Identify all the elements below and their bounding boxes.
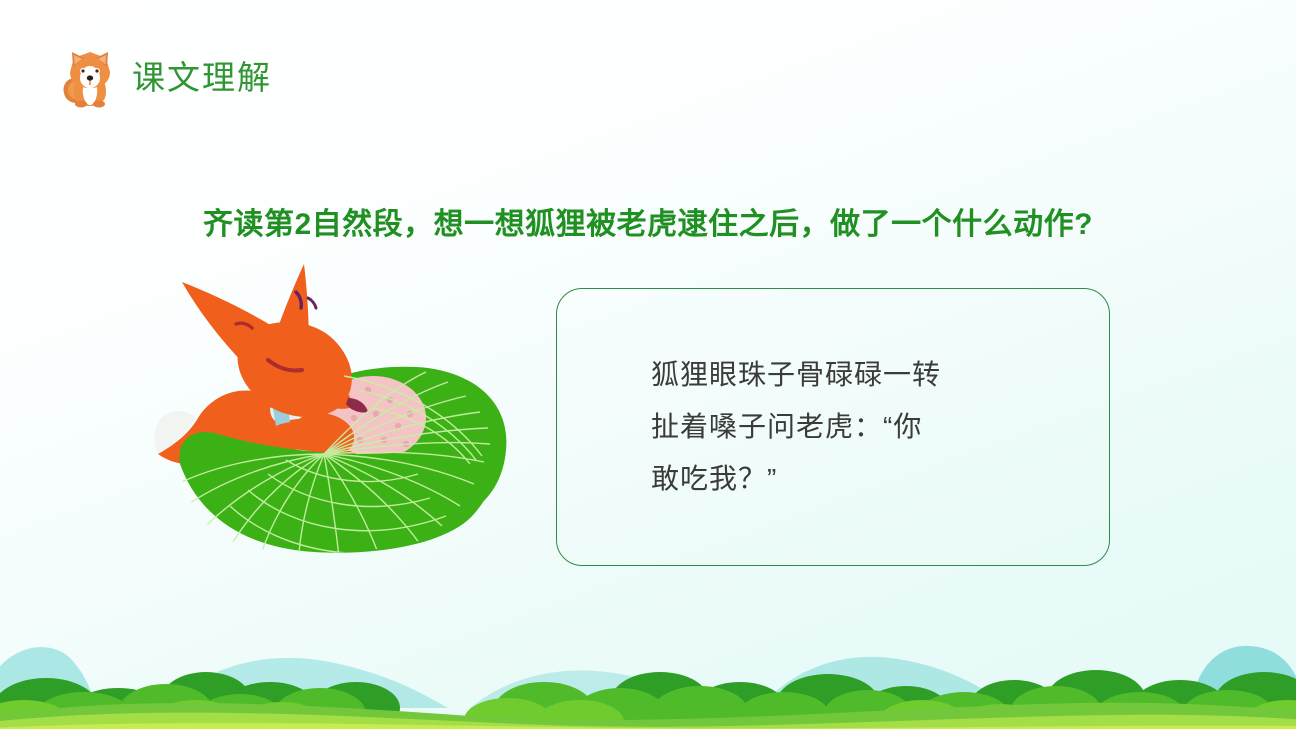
question-heading: 齐读第2自然段，想一想狐狸被老虎逮住之后，做了一个什么动作?: [0, 199, 1296, 243]
fox-sitting-in-leaf-nest-illustration: [118, 258, 522, 564]
quote-line-1: 狐狸眼珠子骨碌碌一转: [651, 349, 941, 401]
fox-icon: [62, 44, 118, 110]
quote-text: 狐狸眼珠子骨碌碌一转 扯着嗓子问老虎：“你 敢吃我？”: [651, 349, 941, 505]
quote-box: 狐狸眼珠子骨碌碌一转 扯着嗓子问老虎：“你 敢吃我？”: [556, 288, 1110, 566]
header: 课文理解: [62, 44, 272, 110]
slide-canvas: 课文理解 齐读第2自然段，想一想狐狸被老虎逮住之后，做了一个什么动作?: [0, 0, 1296, 729]
quote-line-2: 扯着嗓子问老虎：“你: [651, 401, 941, 453]
quote-line-3: 敢吃我？”: [651, 453, 941, 505]
leaf-nest-front: [170, 362, 504, 564]
grass-hills-and-bushes: [0, 624, 1296, 729]
page-title: 课文理解: [132, 61, 272, 94]
